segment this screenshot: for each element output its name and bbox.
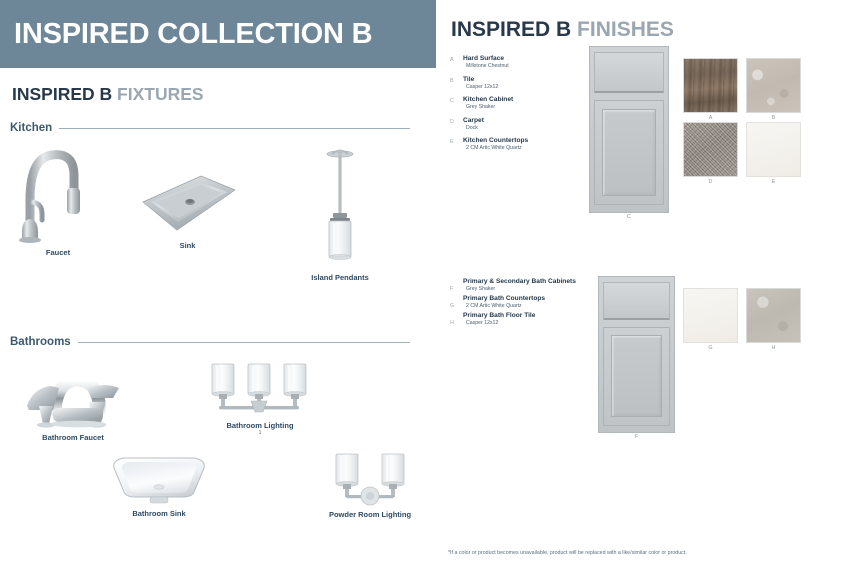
legend-item: F Primary & Secondary Bath Cabinets Grey…	[450, 278, 590, 293]
pendant-light-icon	[290, 145, 390, 270]
cabinet-drawer-front	[594, 52, 664, 93]
swatch-texture	[683, 288, 738, 343]
legend-item: E Kitchen Countertops 2 CM Artic White Q…	[450, 137, 590, 152]
cabinet-caption: C	[589, 214, 669, 220]
swatch-texture	[746, 122, 801, 177]
swatch-texture	[683, 58, 738, 113]
fixture-label: Bathroom Faucet	[13, 433, 133, 442]
swatch-hard-surface: A	[683, 58, 738, 113]
legend-item: H Primary Bath Floor Tile Casper 12x12	[450, 312, 590, 327]
swatch-caption: B	[746, 115, 801, 121]
fixture-sublabel: 1	[195, 430, 325, 436]
cabinet-drawer-front	[603, 282, 671, 321]
legend-sub: Casper 12x12	[463, 320, 590, 327]
legend-sub: 2 CM Artic White Quartz	[463, 145, 590, 152]
fixture-label: Powder Room Lighting	[310, 510, 430, 519]
legend-sub: Grey Shaker	[463, 286, 590, 293]
swatch-bath-floor-tile: H	[746, 288, 801, 343]
fixture-bathroom-faucet: Bathroom Faucet	[13, 358, 133, 442]
legend-item: B Tile Casper 12x12	[450, 76, 590, 91]
legend-letter: H	[450, 320, 454, 326]
swatch-caption: E	[746, 179, 801, 185]
cabinet-center-panel	[611, 335, 662, 417]
cabinet-door-bath: F	[598, 276, 675, 433]
fixture-label: Bathroom Lighting	[195, 421, 325, 430]
swatch-carpet: D	[683, 122, 738, 177]
cabinet-door-front	[603, 327, 671, 426]
legend-title: Tile	[463, 76, 590, 84]
swatch-tile: B	[746, 58, 801, 113]
swatch-kitchen-countertop: E	[746, 122, 801, 177]
swatch-caption: D	[683, 179, 738, 185]
legend-item: G Primary Bath Countertops 2 CM Artic Wh…	[450, 295, 590, 310]
fixture-bathroom-lighting: Bathroom Lighting 1	[195, 360, 325, 436]
legend-letter: D	[450, 119, 454, 125]
legend-letter: E	[450, 139, 454, 145]
collection-banner: INSPIRED COLLECTION B	[0, 0, 436, 68]
cabinet-caption: F	[598, 434, 675, 440]
fixture-kitchen-faucet: Faucet	[8, 140, 108, 257]
legend-sub: Grey Shaker	[463, 104, 590, 111]
vanity-light-icon	[195, 360, 325, 418]
fixture-bathroom-sink: Bathroom Sink	[100, 448, 218, 518]
fixture-powder-room-lighting: Powder Room Lighting	[310, 452, 430, 519]
cabinet-door-front	[594, 100, 664, 206]
section-label-bathrooms: Bathrooms	[10, 336, 78, 348]
cabinet-body	[589, 46, 669, 213]
fixtures-heading: INSPIRED B FIXTURES	[12, 84, 204, 105]
fixture-label: Sink	[135, 241, 240, 250]
section-header-bathrooms: Bathrooms	[10, 336, 410, 348]
legend-sub: 2 CM Artic White Quartz	[463, 303, 590, 310]
legend-title: Primary Bath Countertops	[463, 295, 590, 303]
legend-title: Kitchen Countertops	[463, 137, 590, 145]
swatch-caption: A	[683, 115, 738, 121]
cabinet-door-kitchen: C	[589, 46, 669, 213]
finishes-heading: INSPIRED B FINISHES	[451, 18, 674, 42]
finishes-legend-primary: A Hard Surface Millstone Chestnut B Tile…	[450, 55, 590, 158]
finishes-legend-secondary: F Primary & Secondary Bath Cabinets Grey…	[450, 278, 590, 329]
section-label-kitchen: Kitchen	[10, 122, 59, 134]
swatch-bath-countertop: G	[683, 288, 738, 343]
swatch-texture	[746, 288, 801, 343]
finishes-heading-secondary: FINISHES	[577, 18, 674, 41]
fixture-label: Island Pendants	[290, 273, 390, 282]
legend-item: A Hard Surface Millstone Chestnut	[450, 55, 590, 70]
cabinet-center-panel	[602, 109, 655, 196]
legend-item: D Carpet Dock	[450, 117, 590, 132]
legend-letter: G	[450, 303, 454, 309]
swatch-texture	[683, 122, 738, 177]
legend-letter: C	[450, 98, 454, 104]
section-rule	[78, 342, 410, 343]
collection-title: INSPIRED COLLECTION B	[0, 18, 372, 51]
fixture-label: Faucet	[8, 248, 108, 257]
kitchen-faucet-icon	[8, 140, 108, 245]
collection-board-page: INSPIRED COLLECTION B INSPIRED B FIXTURE…	[0, 0, 853, 569]
legend-title: Kitchen Cabinet	[463, 96, 590, 104]
fixtures-heading-secondary: FIXTURES	[117, 84, 204, 104]
fixtures-heading-primary: INSPIRED B	[12, 84, 112, 104]
legend-title: Primary Bath Floor Tile	[463, 312, 590, 320]
legend-letter: F	[450, 286, 453, 292]
legend-sub: Dock	[463, 125, 590, 132]
bathroom-sink-icon	[100, 448, 218, 506]
legend-title: Hard Surface	[463, 55, 590, 63]
legend-sub: Millstone Chestnut	[463, 63, 590, 70]
legend-sub: Casper 12x12	[463, 84, 590, 91]
legend-title: Carpet	[463, 117, 590, 125]
swatch-caption: H	[746, 345, 801, 351]
bathroom-faucet-icon	[13, 358, 133, 430]
swatch-texture	[746, 58, 801, 113]
legend-title: Primary & Secondary Bath Cabinets	[463, 278, 590, 286]
legend-item: C Kitchen Cabinet Grey Shaker	[450, 96, 590, 111]
kitchen-sink-icon	[135, 170, 240, 238]
powder-room-light-icon	[310, 452, 430, 507]
finishes-heading-primary: INSPIRED B	[451, 18, 571, 41]
swatch-caption: G	[683, 345, 738, 351]
disclaimer-footnote: *If a color or product becomes unavailab…	[448, 550, 848, 556]
fixture-island-pendants: Island Pendants	[290, 145, 390, 282]
legend-letter: B	[450, 78, 454, 84]
fixture-label: Bathroom Sink	[100, 509, 218, 518]
cabinet-body	[598, 276, 675, 433]
section-header-kitchen: Kitchen	[10, 122, 410, 134]
section-rule	[59, 128, 410, 129]
fixture-kitchen-sink: Sink	[135, 170, 240, 250]
legend-letter: A	[450, 57, 454, 63]
